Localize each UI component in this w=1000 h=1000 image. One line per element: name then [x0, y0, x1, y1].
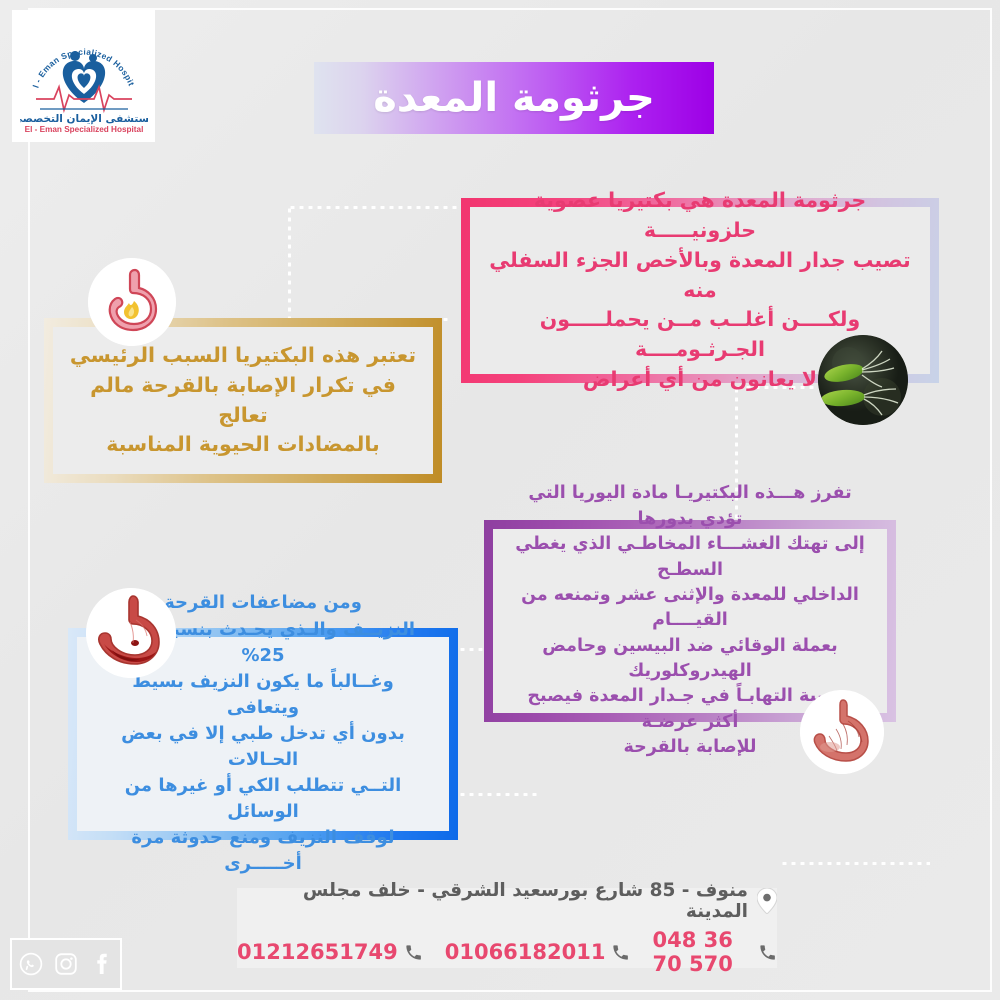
connector-dots-top-horizontal: [288, 206, 464, 209]
whatsapp-icon[interactable]: [19, 952, 43, 976]
frame-border-left: [28, 8, 30, 992]
svg-text:مستشفى الإيمان التخصصي: مستشفى الإيمان التخصصي: [20, 113, 148, 125]
stomach-bleeding-artwork: [86, 588, 176, 678]
frame-border-bottom: [28, 990, 992, 992]
connector-dots-blue-bottom: [458, 793, 538, 796]
stomach-anatomy-artwork: [800, 690, 884, 774]
facebook-icon[interactable]: [89, 952, 113, 976]
infographic-poster: El - Eman Specialized Hospital مستشفى ال…: [0, 0, 1000, 1000]
phone-number-3[interactable]: 01212651749: [237, 940, 398, 964]
page-title: جرثومة المعدة: [314, 62, 714, 134]
frame-border-top: [28, 8, 992, 10]
info-box-main-cause-text: تعتبر هذه البكتيريا السبب الرئيسي في تكر…: [69, 341, 417, 460]
social-links-bar: [10, 938, 122, 990]
phone-number-1[interactable]: 048 36 70 570: [652, 928, 752, 976]
stomach-anatomy-illustration: [800, 690, 884, 774]
h-pylori-bacteria-photo: [818, 335, 908, 425]
info-box-main-cause-inner: تعتبر هذه البكتيريا السبب الرئيسي في تكر…: [53, 327, 433, 474]
contact-card: منوف - 85 شارع بورسعيد الشرقي - خلف مجلس…: [237, 888, 777, 968]
stomach-heartburn-illustration: [88, 258, 176, 346]
phone-handset-icon: [611, 943, 630, 962]
hospital-logo: El - Eman Specialized Hospital مستشفى ال…: [12, 10, 155, 142]
address-text: منوف - 85 شارع بورسعيد الشرقي - خلف مجلس…: [237, 880, 748, 922]
location-pin-icon: [757, 888, 777, 914]
phones-row: 048 36 70 570 01066182011 01212651749: [237, 928, 777, 976]
h-pylori-bacteria-artwork: [818, 335, 908, 425]
address-row: منوف - 85 شارع بورسعيد الشرقي - خلف مجلس…: [237, 880, 777, 922]
connector-dots-top-vertical: [288, 206, 291, 320]
page-title-text: جرثومة المعدة: [373, 78, 655, 118]
phone-handset-icon: [404, 943, 423, 962]
phone-handset-icon: [758, 943, 777, 962]
connector-dots-footer: [780, 862, 930, 865]
phone-entry-1[interactable]: 048 36 70 570: [652, 928, 777, 976]
logo-artwork: El - Eman Specialized Hospital مستشفى ال…: [20, 17, 148, 135]
info-box-urea-mechanism-inner: تفرز هـــذه البكتيريـا مادة اليوريا التي…: [493, 529, 887, 713]
phone-entry-3[interactable]: 01212651749: [237, 940, 423, 964]
stomach-bleeding-illustration: [86, 588, 176, 678]
stomach-heartburn-artwork: [88, 258, 176, 346]
svg-text:El - Eman Specialized Hospital: El - Eman Specialized Hospital: [24, 125, 143, 134]
phone-number-2[interactable]: 01066182011: [445, 940, 606, 964]
phone-entry-2[interactable]: 01066182011: [445, 940, 631, 964]
info-box-main-cause: تعتبر هذه البكتيريا السبب الرئيسي في تكر…: [44, 318, 442, 483]
frame-border-right: [990, 8, 992, 992]
instagram-icon[interactable]: [54, 952, 78, 976]
